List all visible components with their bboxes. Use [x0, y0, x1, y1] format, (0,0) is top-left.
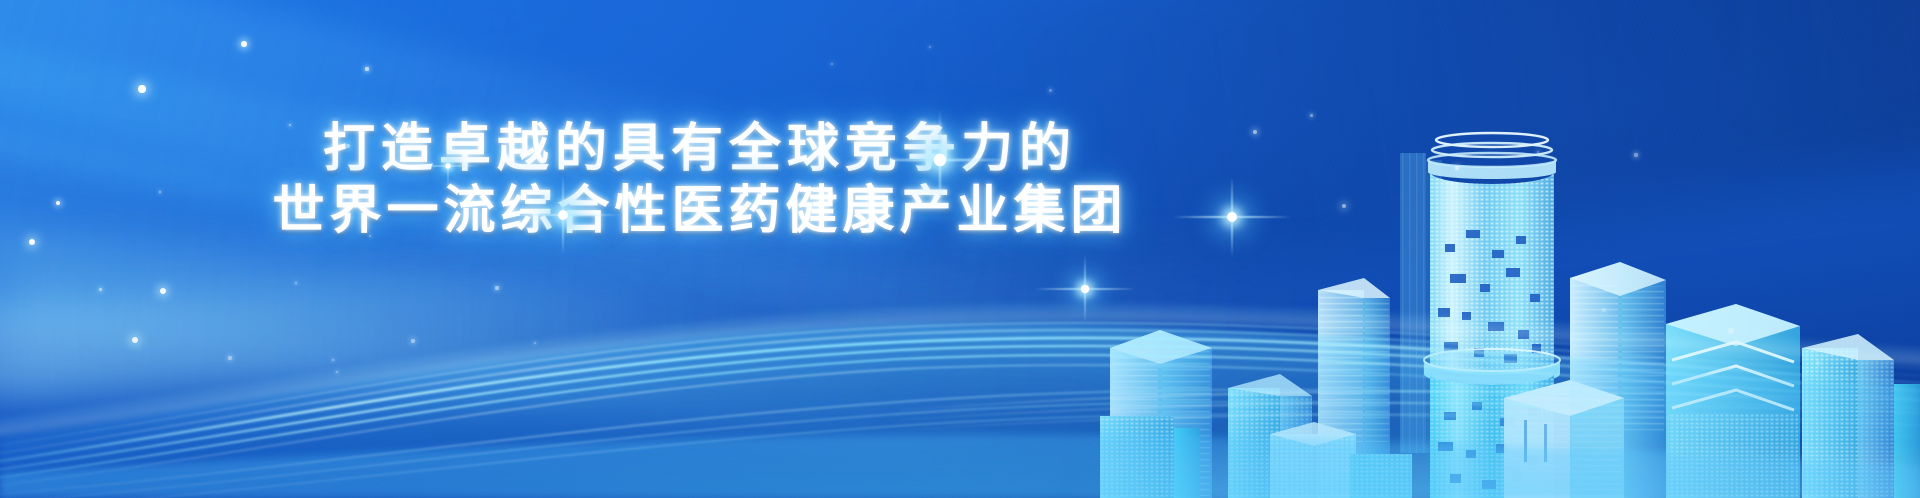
- headline-line-2: 世界一流综合性医药健康产业集团: [0, 180, 1400, 242]
- mid-haze-glow: [0, 270, 682, 400]
- diagonal-light-band: [0, 0, 1259, 386]
- particle-dot: [159, 191, 162, 194]
- particle-dot: [295, 282, 298, 285]
- particle-dot: [1253, 130, 1257, 134]
- particle-dot: [369, 235, 371, 237]
- diagonal-light-band: [0, 60, 1308, 498]
- hero-banner: 打造卓越的具有全球竞争力的 世界一流综合性医药健康产业集团: [0, 0, 1920, 498]
- particle-dot: [228, 356, 231, 359]
- particle-dot: [56, 201, 60, 205]
- texture-overlay: [0, 0, 1920, 498]
- particle-dot: [534, 342, 536, 344]
- particle-dot: [336, 371, 338, 373]
- light-wave-ribbons-icon: [0, 238, 1920, 498]
- banner-headline: 打造卓越的具有全球竞争力的 世界一流综合性医药健康产业集团: [0, 118, 1400, 242]
- particle-dot: [929, 46, 931, 48]
- particle-dot: [132, 337, 138, 343]
- corner-vignette: [805, 0, 1920, 322]
- particle-dot: [1816, 361, 1820, 365]
- particle-dot: [1537, 151, 1540, 154]
- diagonal-light-band: [0, 0, 1289, 402]
- particle-dot: [99, 288, 102, 291]
- particle-dot: [1728, 328, 1733, 333]
- city-skyline-icon: [1100, 98, 1920, 498]
- particle-dot: [332, 359, 335, 362]
- particle-dot: [1602, 308, 1606, 312]
- particle-dot: [160, 288, 166, 294]
- particle-dot: [1310, 114, 1313, 117]
- bottom-glow: [1100, 338, 1920, 498]
- particle-dot: [138, 85, 145, 92]
- mid-haze-glow: [0, 250, 1920, 400]
- particle-dot: [365, 67, 368, 70]
- particle-dot: [411, 339, 414, 342]
- particle-dot: [1342, 204, 1347, 209]
- particle-dot: [1049, 89, 1052, 92]
- diagonal-light-band: [0, 0, 852, 370]
- bottom-glow: [0, 348, 1920, 498]
- particle-dot: [29, 239, 36, 246]
- particle-dot: [289, 124, 292, 127]
- particle-dot: [333, 137, 335, 139]
- particle-dot: [495, 286, 498, 289]
- particle-dot: [831, 63, 834, 66]
- diagonal-light-band: [0, 165, 1039, 467]
- particle-dot: [1634, 153, 1637, 156]
- main-tower: [1424, 133, 1560, 498]
- headline-line-1: 打造卓越的具有全球竞争力的: [0, 118, 1400, 180]
- particle-dot: [346, 144, 350, 148]
- particle-dot: [241, 41, 246, 46]
- particle-dot: [1455, 166, 1459, 170]
